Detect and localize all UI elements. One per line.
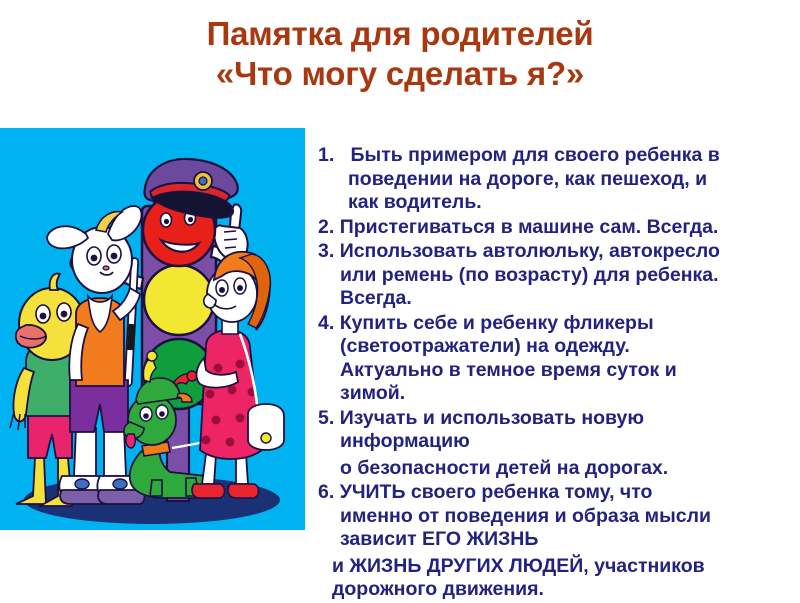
list-item: 3. Использовать автолюльку, автокресло и…	[318, 240, 800, 311]
list-item: 5. Изучать и использовать новую информац…	[318, 407, 800, 481]
list-item: 4. Купить себе и ребенку фликеры (светоо…	[318, 312, 800, 406]
list-item-text: Пристегиваться в машине сам. Всегда.	[340, 216, 719, 238]
list-item: 1. Быть примером для своего ребенка в по…	[318, 144, 800, 215]
list-item-line: 1. Быть примером для своего ребенка в	[318, 144, 800, 168]
list-item-line: как водитель.	[318, 191, 800, 215]
list-item-line: Всегда.	[318, 287, 800, 311]
list-item-line: Актуально в темное время суток и	[318, 359, 800, 383]
page-title: Памятка для родителей «Что могу сделать …	[0, 14, 800, 94]
list-item-text: Использовать автолюльку, автокресло	[340, 240, 720, 262]
list-item-number: 5.	[318, 407, 334, 429]
list-item-text: Купить себе и ребенку фликеры	[340, 312, 654, 334]
list-item-line: поведении на дороге, как пешеход, и	[318, 168, 800, 192]
list-item: 2. Пристегиваться в машине сам. Всегда.	[318, 216, 800, 240]
list-item-line: 5. Изучать и использовать новую	[318, 407, 800, 431]
list-item-line: о безопасности детей на дорогах.	[318, 457, 800, 481]
list-item-line: зимой.	[318, 382, 800, 406]
illustration-panel	[0, 128, 305, 530]
list-item-line: или ремень (по возрасту) для ребенка.	[318, 264, 800, 288]
page-title-line-2: «Что могу сделать я?»	[0, 54, 800, 94]
list-item-line: 2. Пристегиваться в машине сам. Всегда.	[318, 216, 800, 240]
girl-shoe-right-icon	[228, 484, 259, 498]
list-item-line: именно от поведения и образа мысли	[318, 505, 800, 529]
page-title-line-1: Памятка для родителей	[0, 14, 800, 54]
list-item-number: 4.	[318, 312, 334, 334]
list-item-line: информацию	[318, 430, 800, 454]
list-item-number: 1.	[318, 144, 334, 166]
traffic-safety-illustration	[0, 128, 305, 530]
list-item: 6. УЧИТЬ своего ребенка тому, что именно…	[318, 481, 800, 602]
recommendations-list: 1. Быть примером для своего ребенка в по…	[318, 144, 800, 603]
list-item-line: 3. Использовать автолюльку, автокресло	[318, 240, 800, 264]
list-item-line: дорожного движения.	[318, 578, 800, 602]
list-item-number: 3.	[318, 240, 334, 262]
list-item-text: Изучать и использовать новую	[340, 407, 644, 429]
list-item-line: 4. Купить себе и ребенку фликеры	[318, 312, 800, 336]
list-item-line: 6. УЧИТЬ своего ребенка тому, что	[318, 481, 800, 505]
list-item-number: 6.	[318, 481, 334, 503]
girl-shoe-left-icon	[192, 484, 225, 498]
list-item-line: (светоотражатели) на одежду.	[318, 335, 800, 359]
list-item-number: 2.	[318, 216, 334, 238]
list-item-line: и ЖИЗНЬ ДРУГИХ ЛЮДЕЙ, участников	[318, 555, 800, 579]
slide-root: Памятка для родителей «Что могу сделать …	[0, 0, 800, 600]
list-item-text: Быть примером для своего ребенка в	[351, 144, 720, 166]
list-item-line: зависит ЕГО ЖИЗНЬ	[318, 528, 800, 552]
list-item-text: УЧИТЬ своего ребенка тому, что	[340, 481, 653, 503]
